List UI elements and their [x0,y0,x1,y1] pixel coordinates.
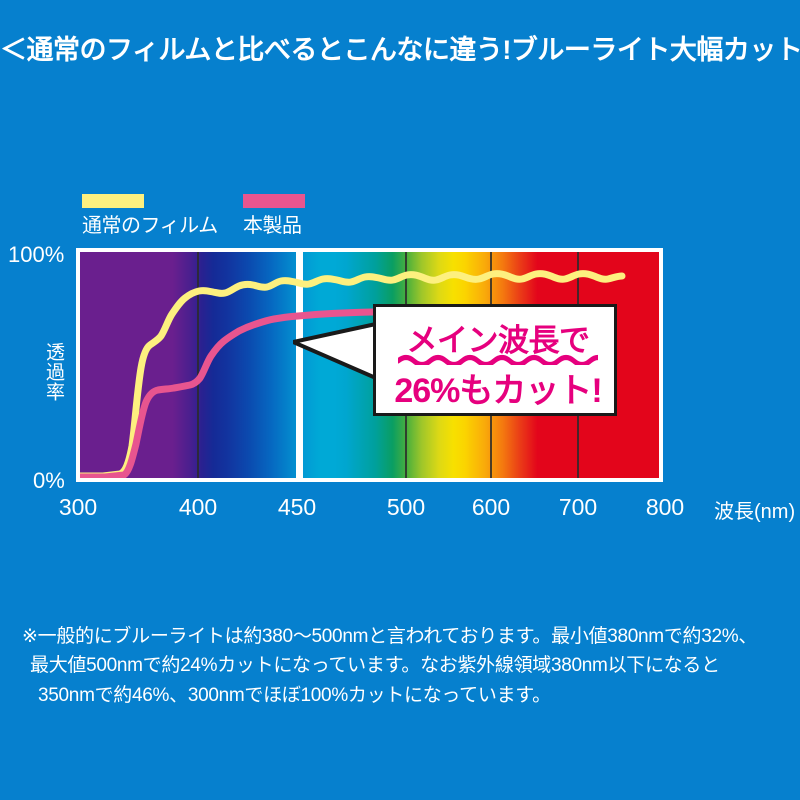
footnote-line-3: 350nmで約46%、300nmでほぼ100%カットになっています。 [22,681,792,710]
x-tick-600: 600 [472,494,510,521]
x-tick-500: 500 [387,494,425,521]
y-axis-max-label: 100% [8,242,64,268]
legend-swatch-this-product [243,194,305,208]
legend-label-this-product: 本製品 [243,209,302,238]
y-axis-min-label: 0% [33,468,65,494]
callout-box: メイン波長で 26%もカット! [373,304,617,416]
x-tick-300: 300 [59,494,97,521]
x-tick-700: 700 [559,494,597,521]
footnote: ※一般的にブルーライトは約380〜500nmと言われております。最小値380nm… [22,622,792,710]
legend-swatch-ordinary-film [82,194,144,208]
x-axis-unit-label: 波長(nm) [714,495,795,524]
callout-line-2: 26%もカット! [376,363,620,412]
x-tick-400: 400 [179,494,217,521]
infographic-root: ＜通常のフィルムと比べるとこんなに違う!ブルーライト大幅カット!＞ 通常のフィル… [0,0,800,800]
callout-tail [293,322,385,386]
x-tick-800: 800 [646,494,684,521]
footnote-line-2: 最大値500nmで約24%カットになっています。なお紫外線領域380nm以下にな… [22,651,792,680]
page-title: ＜通常のフィルムと比べるとこんなに違う!ブルーライト大幅カット!＞ [0,28,800,67]
x-tick-450: 450 [278,494,316,521]
callout-annotation: メイン波長で 26%もカット! [373,304,617,416]
chart-legend: 通常のフィルム 本製品 [76,194,396,240]
y-axis-title: 透過率 [40,342,67,402]
footnote-line-1: ※一般的にブルーライトは約380〜500nmと言われております。最小値380nm… [22,622,792,651]
legend-label-ordinary-film: 通常のフィルム [82,209,218,238]
